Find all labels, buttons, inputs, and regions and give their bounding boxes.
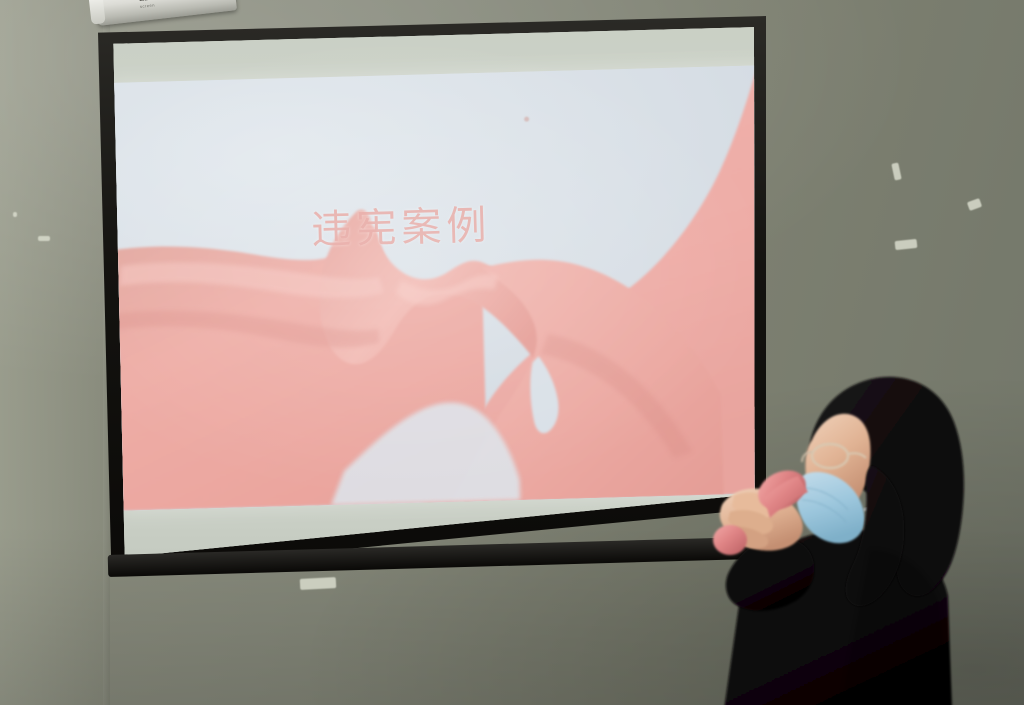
slide-title: 违宪案例	[311, 192, 493, 255]
presenter	[690, 370, 1024, 705]
tape-scuff-below-screen	[300, 577, 337, 590]
projected-slide: 违宪案例	[108, 65, 766, 511]
paint-fleck-left	[13, 212, 17, 217]
projection-screen[interactable]: 违宪案例	[98, 16, 766, 572]
slide-ribbon-artwork	[108, 65, 766, 511]
presenter-figure	[690, 370, 1024, 705]
scene-root: Ltn screen	[0, 0, 1024, 705]
paint-fleck-left-lower	[38, 236, 50, 241]
screen-fabric-surface: 违宪案例	[98, 16, 766, 572]
